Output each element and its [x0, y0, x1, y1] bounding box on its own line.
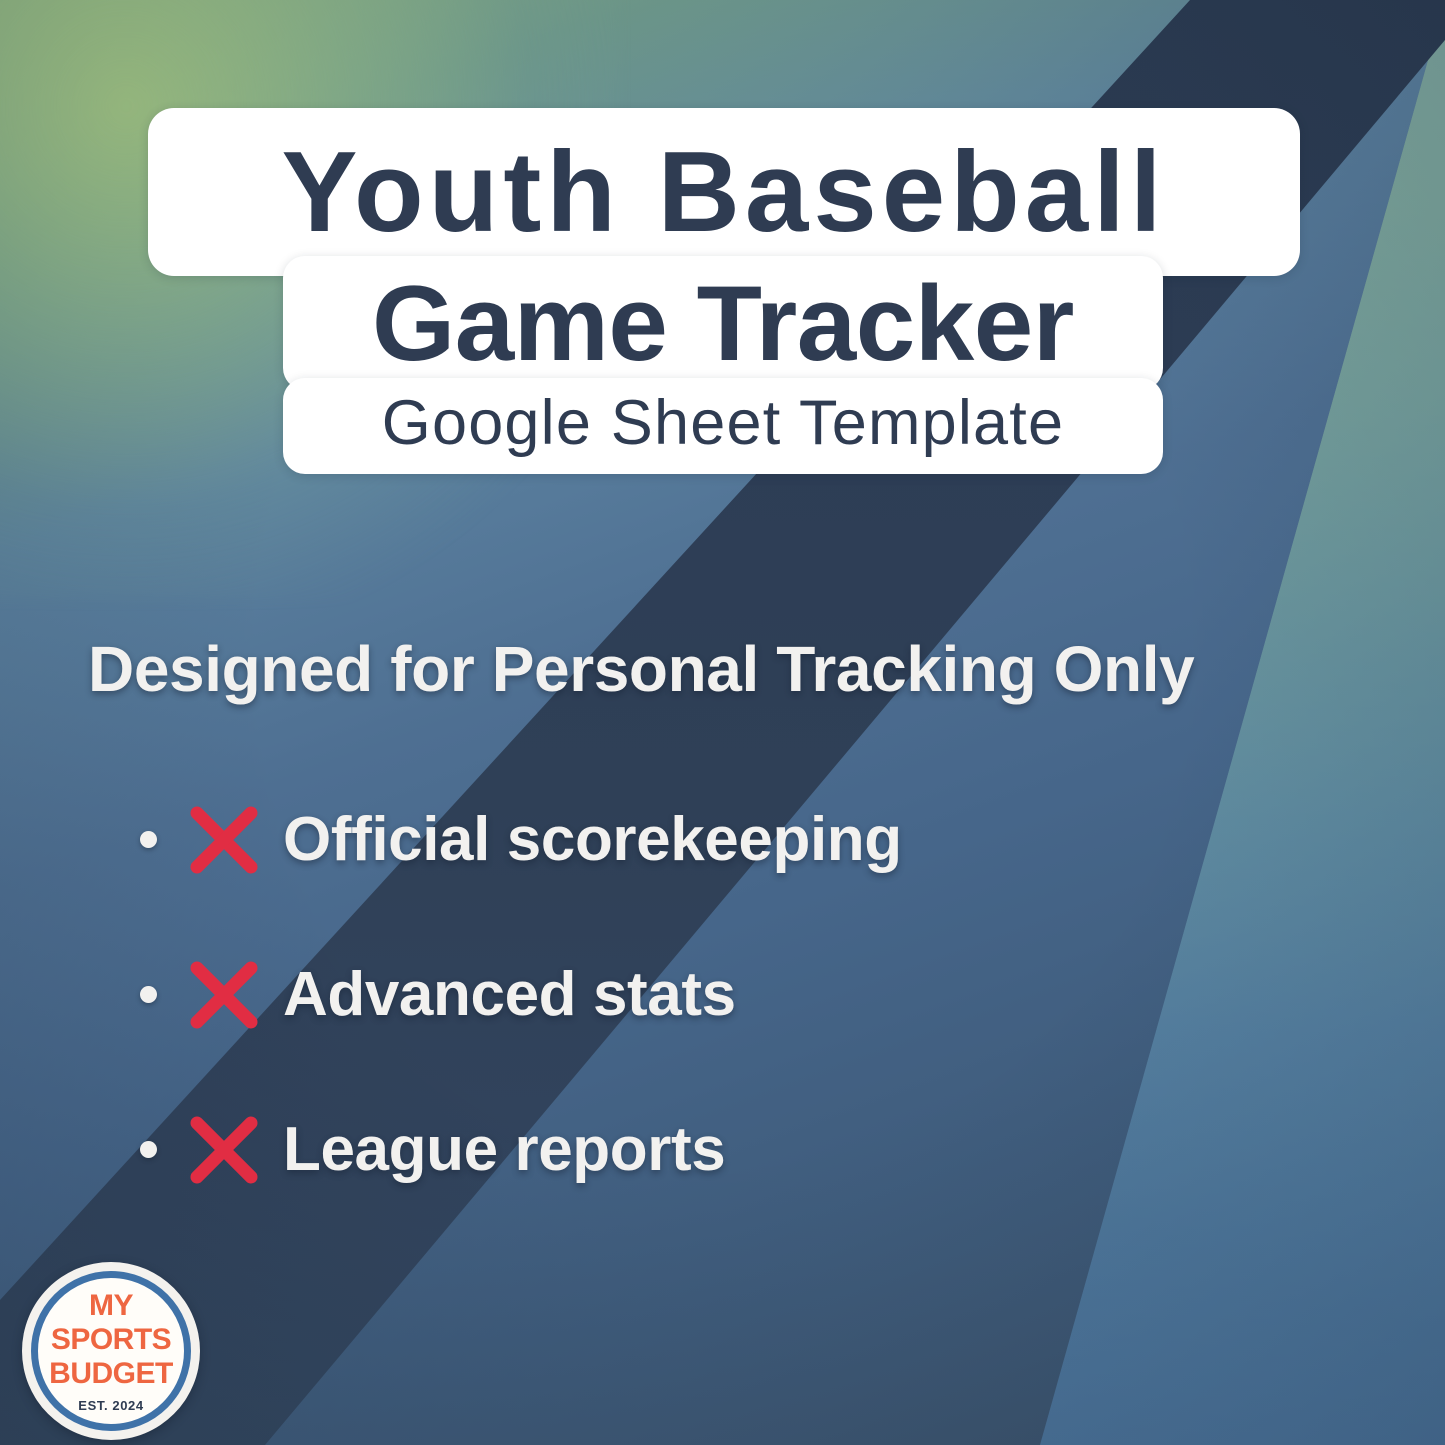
red-x-icon	[187, 1113, 261, 1187]
red-x-icon	[187, 803, 261, 877]
bullet-dot-icon	[140, 831, 157, 848]
list-item-label: Advanced stats	[283, 959, 736, 1030]
bullet-dot-icon	[140, 1141, 157, 1158]
promo-graphic: Youth Baseball Game Tracker Google Sheet…	[0, 0, 1445, 1445]
logo-line-budget: BUDGET	[49, 1359, 173, 1389]
logo-line-my: MY	[89, 1291, 133, 1321]
logo-established: EST. 2024	[78, 1399, 143, 1412]
list-item: League reports	[0, 1072, 1445, 1227]
list-item-label: Official scorekeeping	[283, 804, 902, 875]
list-item: Advanced stats	[0, 917, 1445, 1072]
title-line-primary: Youth Baseball	[148, 108, 1300, 276]
brand-logo: MY SPORTS BUDGET EST. 2024	[22, 1262, 200, 1440]
bullet-dot-icon	[140, 986, 157, 1003]
list-item: Official scorekeeping	[0, 762, 1445, 917]
exclusion-list: Official scorekeeping Advanced stats Lea…	[0, 762, 1445, 1227]
logo-text-group: MY SPORTS BUDGET EST. 2024	[22, 1262, 200, 1440]
title-line-subtitle: Google Sheet Template	[283, 378, 1163, 474]
red-x-icon	[187, 958, 261, 1032]
list-item-label: League reports	[283, 1114, 725, 1185]
headline-text: Designed for Personal Tracking Only	[88, 632, 1368, 706]
logo-line-sports: SPORTS	[51, 1325, 171, 1355]
title-line-secondary: Game Tracker	[283, 256, 1163, 390]
